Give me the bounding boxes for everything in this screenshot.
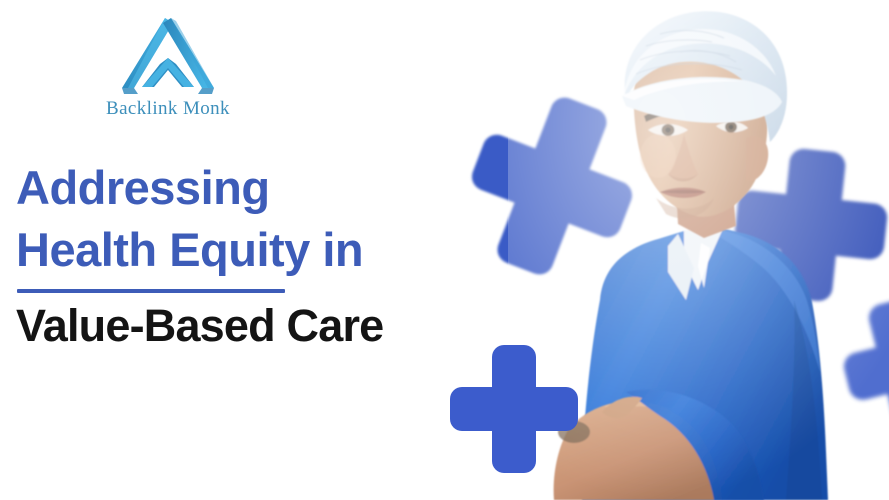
brand-wordmark: Backlink Monk [88, 98, 248, 120]
headline-line-1: Addressing [16, 157, 383, 219]
medical-cross-icon-far-right [831, 287, 889, 442]
cross-vertical-bar [492, 345, 536, 473]
brand-logo[interactable]: Backlink Monk [88, 14, 248, 120]
medical-cross-icon-large [447, 76, 658, 297]
cross-vertical-bar [866, 296, 889, 434]
subheadline: Value-Based Care [16, 299, 383, 353]
medical-cross-icon-right [729, 143, 889, 308]
logo-chevron-a-icon [114, 14, 222, 96]
medical-cross-icon-bottom [450, 345, 578, 473]
banner-graphic: Backlink Monk Addressing Health Equity i… [0, 0, 889, 500]
headline-line-2: Health Equity in [16, 219, 383, 281]
headline-divider [17, 289, 285, 293]
cross-vertical-bar [775, 147, 846, 302]
cross-horizontal-bar [841, 327, 889, 403]
cross-horizontal-bar [468, 131, 636, 242]
cross-horizontal-bar [733, 189, 888, 260]
headline-block: Addressing Health Equity in Value-Based … [16, 157, 383, 353]
cross-vertical-bar [493, 93, 610, 278]
